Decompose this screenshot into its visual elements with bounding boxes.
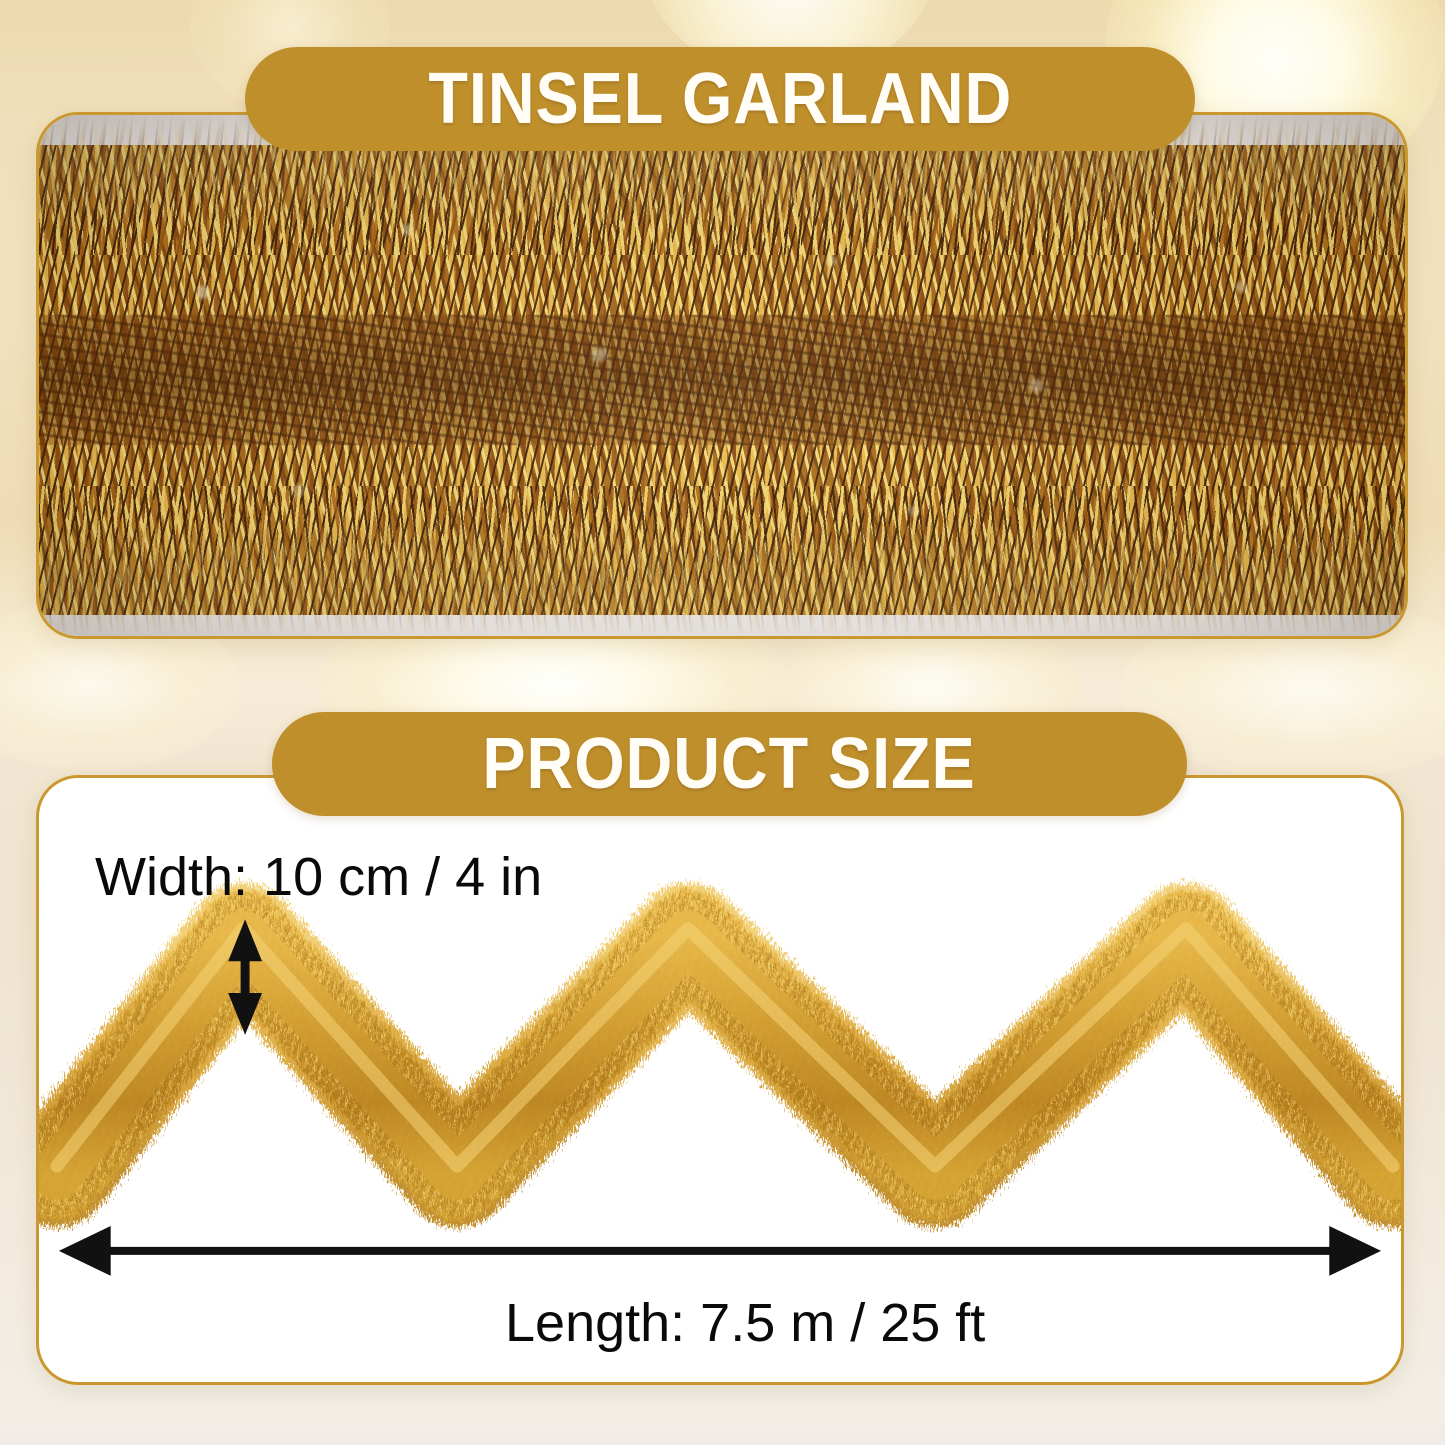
tinsel-shading-overlay: [39, 115, 1405, 636]
feature-image-card: [36, 112, 1408, 639]
feature-banner: TINSEL GARLAND: [245, 47, 1195, 151]
feature-banner-label: TINSEL GARLAND: [428, 58, 1012, 140]
infographic-stage: TINSEL GARLAND: [0, 0, 1445, 1445]
width-dimension-label: Width: 10 cm / 4 in: [95, 846, 542, 908]
product-size-banner: PRODUCT SIZE: [272, 712, 1187, 816]
product-size-banner-label: PRODUCT SIZE: [483, 723, 976, 805]
length-dimension-label: Length: 7.5 m / 25 ft: [505, 1292, 985, 1354]
tinsel-closeup-photo: [39, 115, 1405, 636]
